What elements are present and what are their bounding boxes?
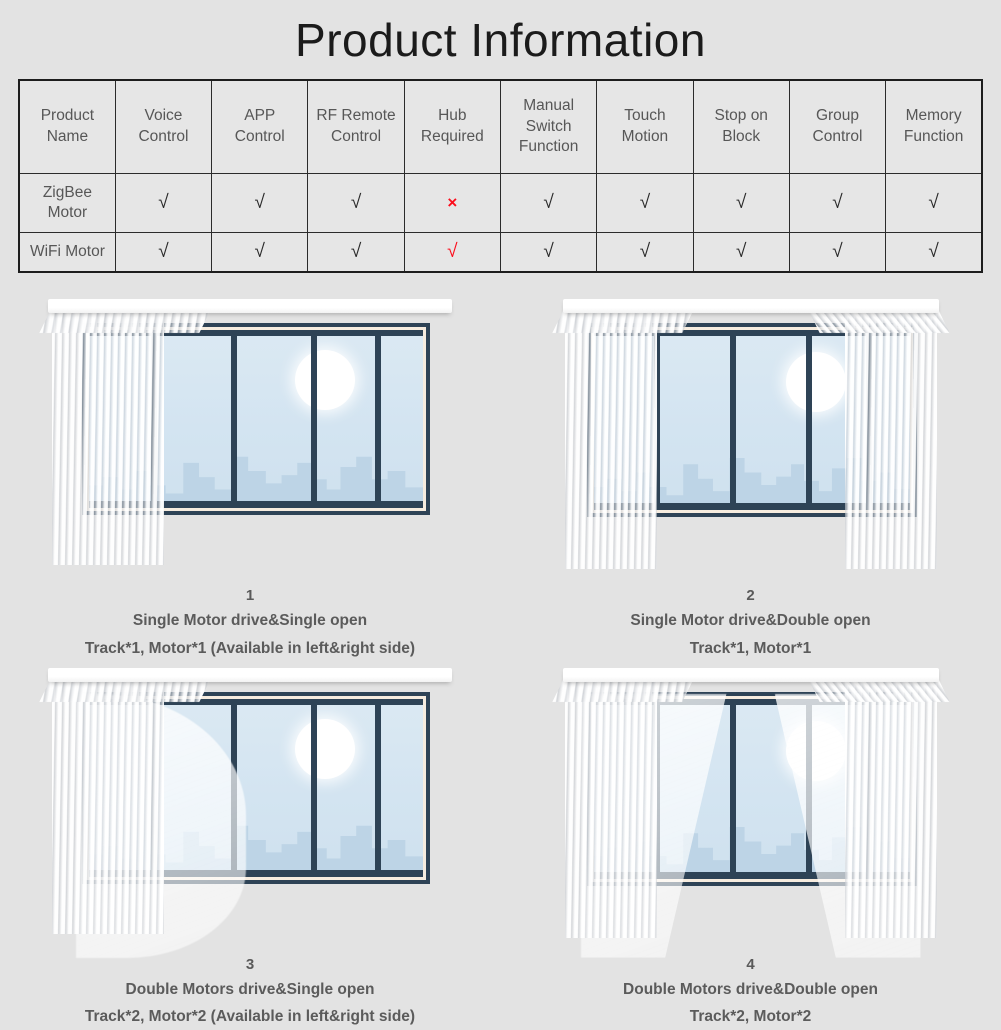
- window-mullion: [311, 330, 317, 508]
- caption-line-1: Single Motor drive&Single open: [85, 607, 415, 634]
- column-header-rf-remote-control: RF Remote Control: [308, 80, 404, 174]
- cell-zigbee-manual-switch-function: √: [500, 173, 596, 232]
- header-line: Control: [119, 127, 208, 147]
- window-mullion: [231, 330, 237, 508]
- cell-zigbee-touch-motion: √: [597, 173, 693, 232]
- window-mullion: [231, 699, 237, 877]
- table-body: ZigBee Motor √ √ √ × √ √ √ √ √ WiFi Moto…: [19, 173, 982, 272]
- sun-icon: [295, 719, 355, 779]
- cell-zigbee-memory-function: √: [886, 173, 982, 232]
- cell-wifi-manual-switch-function: √: [500, 232, 596, 272]
- header-line: Control: [793, 127, 882, 147]
- frame-bottom-bar: [89, 501, 423, 508]
- curtain-rod: [563, 299, 939, 313]
- cell-wifi-touch-motion: √: [597, 232, 693, 272]
- illustration-panel-1: 1 Single Motor drive&Single open Track*1…: [0, 299, 500, 662]
- caption-line-2: Track*1, Motor*1 (Available in left&righ…: [85, 635, 415, 662]
- window-scene-2: [541, 299, 961, 589]
- header-line: APP: [215, 106, 304, 126]
- window-scene-4: [541, 668, 961, 958]
- window-glass: [89, 699, 423, 877]
- header-line: Manual: [504, 96, 593, 116]
- row-label-zigbee-motor: ZigBee Motor: [19, 173, 115, 232]
- caption-line-2: Track*2, Motor*2: [623, 1003, 878, 1030]
- column-header-memory-function: Memory Function: [886, 80, 982, 174]
- caption-2: 2 Single Motor drive&Double open Track*1…: [630, 585, 870, 662]
- frame-bottom-bar: [594, 503, 910, 510]
- window-frame: [587, 323, 917, 517]
- table-row: ZigBee Motor √ √ √ × √ √ √ √ √: [19, 173, 982, 232]
- caption-4: 4 Double Motors drive&Double open Track*…: [623, 954, 878, 1030]
- window-mullion: [311, 699, 317, 877]
- window-scene-3: [40, 668, 460, 958]
- column-header-manual-switch-function: Manual Switch Function: [500, 80, 596, 174]
- table-header-row: Product Name Voice Control APP Control R…: [19, 80, 982, 174]
- cell-zigbee-stop-on-block: √: [693, 173, 789, 232]
- header-line: Motion: [600, 127, 689, 147]
- caption-line-1: Double Motors drive&Single open: [85, 976, 415, 1003]
- column-header-hub-required: Hub Required: [404, 80, 500, 174]
- window-scene-1: [40, 299, 460, 589]
- cell-zigbee-voice-control: √: [115, 173, 211, 232]
- caption-3: 3 Double Motors drive&Single open Track*…: [85, 954, 415, 1030]
- window-mullion: [730, 699, 736, 879]
- city-skyline: [594, 427, 910, 510]
- caption-line-2: Track*2, Motor*2 (Available in left&righ…: [85, 1003, 415, 1030]
- table-header: Product Name Voice Control APP Control R…: [19, 80, 982, 174]
- sun-icon: [786, 352, 846, 412]
- header-line: Switch: [504, 117, 593, 137]
- column-header-group-control: Group Control: [789, 80, 885, 174]
- window-mullion: [151, 330, 157, 508]
- row-label-line: Motor: [21, 203, 114, 223]
- window-mullion: [866, 330, 872, 510]
- header-line: Control: [215, 127, 304, 147]
- product-information-table: Product Name Voice Control APP Control R…: [18, 79, 983, 273]
- sun-icon: [786, 721, 846, 781]
- header-line: Function: [889, 127, 978, 147]
- window-mullion: [730, 330, 736, 510]
- header-line: Group: [793, 106, 882, 126]
- window-frame: [82, 692, 430, 884]
- header-line: Voice: [119, 106, 208, 126]
- window-mullion: [806, 330, 812, 510]
- cell-wifi-memory-function: √: [886, 232, 982, 272]
- window-mullion: [375, 330, 381, 508]
- curtain-rod: [563, 668, 939, 682]
- column-header-stop-on-block: Stop on Block: [693, 80, 789, 174]
- window-frame: [82, 323, 430, 515]
- window-mullion: [866, 699, 872, 879]
- header-line: RF Remote: [311, 106, 400, 126]
- column-header-touch-motion: Touch Motion: [597, 80, 693, 174]
- header-line: Touch: [600, 106, 689, 126]
- city-skyline: [594, 796, 910, 879]
- frame-bottom-bar: [594, 872, 910, 879]
- window-mullion: [375, 699, 381, 877]
- caption-1: 1 Single Motor drive&Single open Track*1…: [85, 585, 415, 662]
- header-line: Block: [697, 127, 786, 147]
- row-label-line: ZigBee: [21, 183, 114, 203]
- header-line: Name: [23, 127, 112, 147]
- illustration-panel-4: 4 Double Motors drive&Double open Track*…: [501, 668, 1001, 1030]
- column-header-app-control: APP Control: [212, 80, 308, 174]
- spec-table-container: Product Name Voice Control APP Control R…: [18, 79, 983, 273]
- header-line: Control: [311, 127, 400, 147]
- cell-zigbee-hub-required: ×: [404, 173, 500, 232]
- window-mullion: [654, 699, 660, 879]
- header-line: Function: [504, 137, 593, 157]
- header-line: Memory: [889, 106, 978, 126]
- cell-wifi-hub-required: √: [404, 232, 500, 272]
- window-frame: [587, 692, 917, 886]
- header-line: Stop on: [697, 106, 786, 126]
- row-label-line: WiFi Motor: [21, 242, 114, 262]
- curtain-rod: [48, 299, 452, 313]
- cell-wifi-app-control: √: [212, 232, 308, 272]
- column-header-product-name: Product Name: [19, 80, 115, 174]
- window-glass: [89, 330, 423, 508]
- window-glass: [594, 699, 910, 879]
- window-glass: [594, 330, 910, 510]
- cell-wifi-voice-control: √: [115, 232, 211, 272]
- table-row: WiFi Motor √ √ √ √ √ √ √ √ √: [19, 232, 982, 272]
- cell-wifi-stop-on-block: √: [693, 232, 789, 272]
- curtain-rod: [48, 668, 452, 682]
- city-skyline: [89, 426, 423, 508]
- cell-zigbee-group-control: √: [789, 173, 885, 232]
- caption-line-1: Double Motors drive&Double open: [623, 976, 878, 1003]
- illustration-panel-3: 3 Double Motors drive&Single open Track*…: [0, 668, 500, 1030]
- illustration-panel-2: 2 Single Motor drive&Double open Track*1…: [501, 299, 1001, 662]
- cell-wifi-rf-remote-control: √: [308, 232, 404, 272]
- window-mullion: [654, 330, 660, 510]
- caption-line-2: Track*1, Motor*1: [630, 635, 870, 662]
- cell-zigbee-rf-remote-control: √: [308, 173, 404, 232]
- header-line: Hub: [408, 106, 497, 126]
- column-header-voice-control: Voice Control: [115, 80, 211, 174]
- cell-zigbee-app-control: √: [212, 173, 308, 232]
- window-mullion: [151, 699, 157, 877]
- page-title: Product Information: [0, 0, 1001, 67]
- frame-bottom-bar: [89, 870, 423, 877]
- cell-wifi-group-control: √: [789, 232, 885, 272]
- sun-icon: [295, 350, 355, 410]
- header-line: Product: [23, 106, 112, 126]
- illustration-grid: 1 Single Motor drive&Single open Track*1…: [0, 299, 1001, 1030]
- header-line: Required: [408, 127, 497, 147]
- caption-line-1: Single Motor drive&Double open: [630, 607, 870, 634]
- row-label-wifi-motor: WiFi Motor: [19, 232, 115, 272]
- window-mullion: [806, 699, 812, 879]
- city-skyline: [89, 795, 423, 877]
